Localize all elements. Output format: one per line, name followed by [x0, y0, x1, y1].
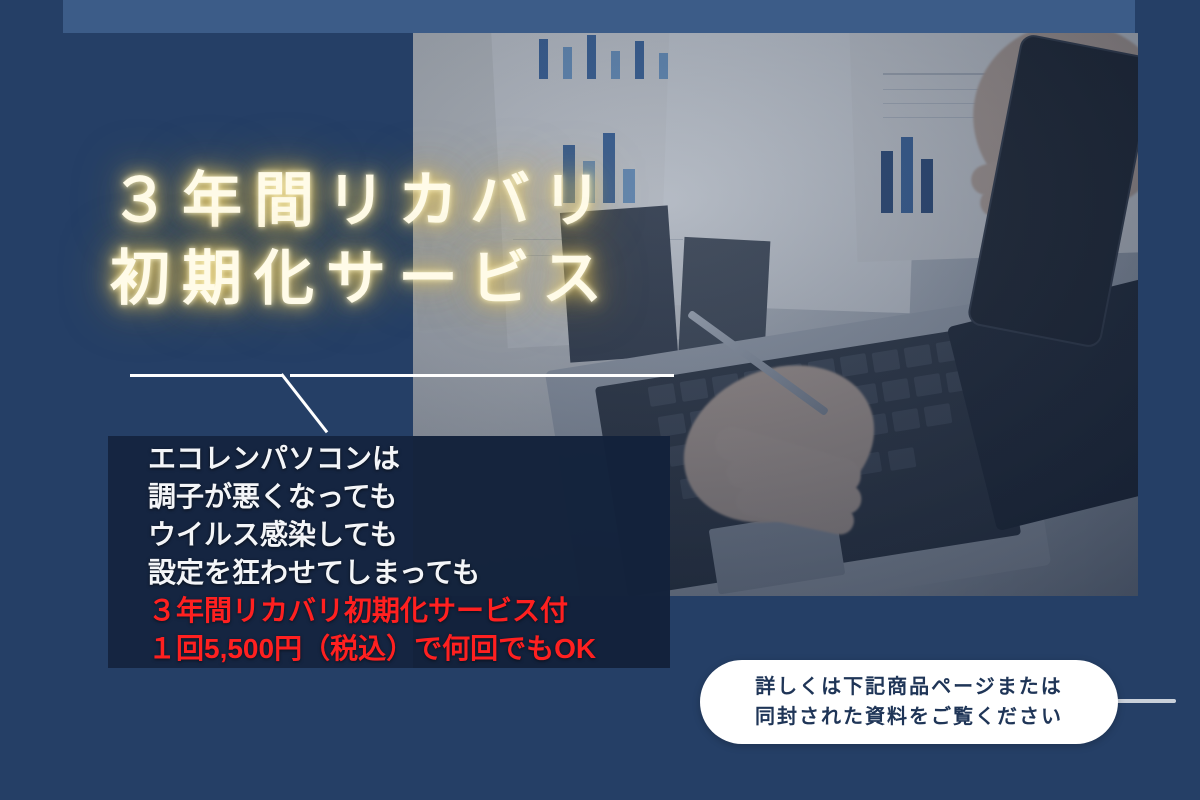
deco-line-right [290, 374, 674, 377]
body-line-2: 調子が悪くなっても [148, 478, 688, 516]
body-line-4: 設定を狂わせてしまっても [148, 554, 688, 592]
callout-line-2: 同封された資料をご覧ください [755, 702, 1063, 732]
callout-pill[interactable]: 詳しくは下記商品ページまたは 同封された資料をご覧ください [700, 660, 1118, 744]
body-highlight-2: １回5,500円（税込）で何回でもOK [148, 630, 688, 668]
deco-line-diagonal [280, 373, 328, 433]
body-line-3: ウイルス感染しても [148, 516, 688, 554]
body-text: エコレンパソコンは 調子が悪くなっても ウイルス感染しても 設定を狂わせてしまっ… [148, 440, 688, 668]
body-line-1: エコレンパソコンは [148, 440, 688, 478]
body-highlight-1: ３年間リカバリ初期化サービス付 [148, 592, 688, 630]
deco-line-left [130, 374, 282, 377]
callout-line-1: 詳しくは下記商品ページまたは [755, 672, 1063, 702]
promo-banner: ３年間リカバリ 初期化サービス エコレンパソコンは 調子が悪くなっても ウイルス… [0, 0, 1200, 800]
